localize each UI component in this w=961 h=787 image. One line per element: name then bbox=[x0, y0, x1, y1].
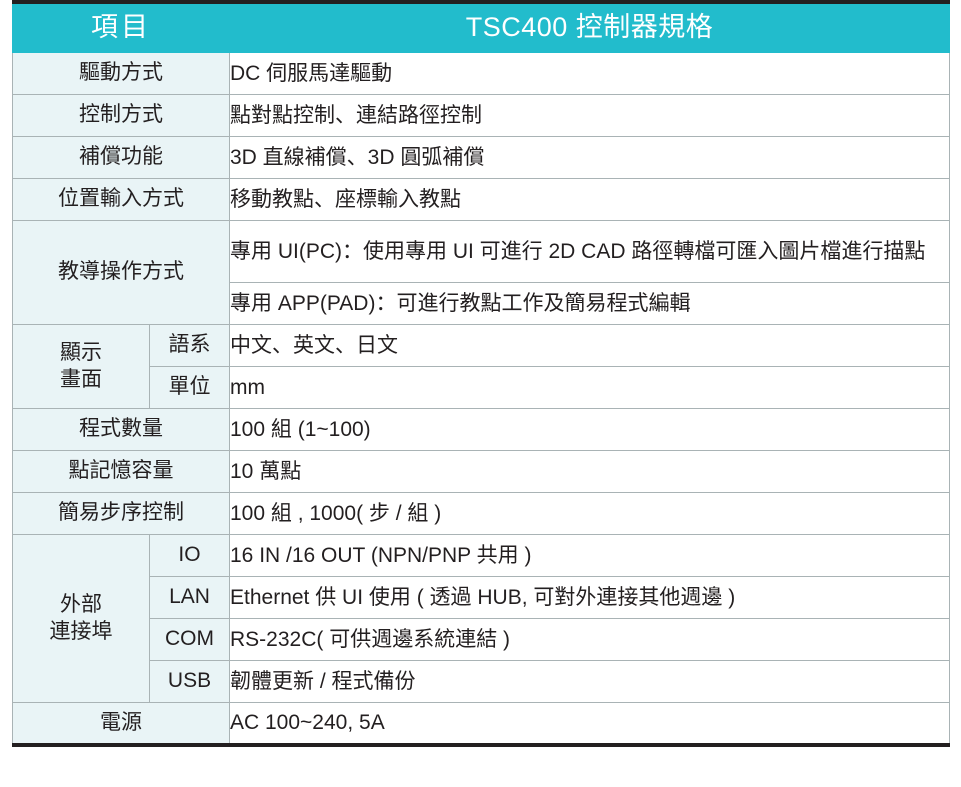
table-row-simple-sequence: 簡易步序控制 100 組 , 1000( 步 / 組 ) bbox=[13, 493, 950, 535]
table-row-program-count: 程式數量 100 組 (1~100) bbox=[13, 409, 950, 451]
table-row-teaching-ui-pc: 教導操作方式 專用 UI(PC)：使用專用 UI 可進行 2D CAD 路徑轉檔… bbox=[13, 221, 950, 283]
table-row-drive-method: 驅動方式 DC 伺服馬達驅動 bbox=[13, 53, 950, 95]
label-external-port: 外部連接埠 bbox=[13, 535, 150, 703]
label-power: 電源 bbox=[13, 703, 230, 745]
label-compensation: 補償功能 bbox=[13, 137, 230, 179]
table-row-compensation: 補償功能 3D 直線補償、3D 圓弧補償 bbox=[13, 137, 950, 179]
label-com: COM bbox=[150, 619, 230, 661]
label-lan: LAN bbox=[150, 577, 230, 619]
label-point-memory: 點記憶容量 bbox=[13, 451, 230, 493]
table-row-display-unit: 單位 mm bbox=[13, 367, 950, 409]
value-power: AC 100~240, 5A bbox=[230, 703, 950, 745]
label-position-input: 位置輸入方式 bbox=[13, 179, 230, 221]
value-language: 中文、英文、日文 bbox=[230, 325, 950, 367]
table-row-io: 外部連接埠 IO 16 IN /16 OUT (NPN/PNP 共用 ) bbox=[13, 535, 950, 577]
value-control-method: 點對點控制、連結路徑控制 bbox=[230, 95, 950, 137]
header-item-label: 項目 bbox=[13, 2, 230, 53]
header-spec-title: TSC400 控制器規格 bbox=[230, 2, 950, 53]
label-drive-method: 驅動方式 bbox=[13, 53, 230, 95]
label-program-count: 程式數量 bbox=[13, 409, 230, 451]
label-teaching-operation: 教導操作方式 bbox=[13, 221, 230, 325]
table-row-com: COM RS-232C( 可供週邊系統連結 ) bbox=[13, 619, 950, 661]
table-row-position-input: 位置輸入方式 移動教點、座標輸入教點 bbox=[13, 179, 950, 221]
label-external-port-line1: 外部 bbox=[60, 593, 102, 616]
label-language: 語系 bbox=[150, 325, 230, 367]
label-display-line2: 畫面 bbox=[60, 368, 102, 391]
label-external-port-line2: 連接埠 bbox=[50, 620, 113, 643]
value-program-count: 100 組 (1~100) bbox=[230, 409, 950, 451]
label-unit: 單位 bbox=[150, 367, 230, 409]
value-teaching-ui-pc: 專用 UI(PC)：使用專用 UI 可進行 2D CAD 路徑轉檔可匯入圖片檔進… bbox=[230, 221, 950, 283]
label-usb: USB bbox=[150, 661, 230, 703]
controller-spec-table: 項目 TSC400 控制器規格 驅動方式 DC 伺服馬達驅動 控制方式 點對點控… bbox=[12, 0, 950, 747]
value-point-memory: 10 萬點 bbox=[230, 451, 950, 493]
value-drive-method: DC 伺服馬達驅動 bbox=[230, 53, 950, 95]
table-header-row: 項目 TSC400 控制器規格 bbox=[13, 2, 950, 53]
value-simple-sequence: 100 組 , 1000( 步 / 組 ) bbox=[230, 493, 950, 535]
value-position-input: 移動教點、座標輸入教點 bbox=[230, 179, 950, 221]
label-simple-sequence: 簡易步序控制 bbox=[13, 493, 230, 535]
label-control-method: 控制方式 bbox=[13, 95, 230, 137]
value-unit: mm bbox=[230, 367, 950, 409]
label-display-line1: 顯示 bbox=[60, 341, 102, 364]
table-row-lan: LAN Ethernet 供 UI 使用 ( 透過 HUB, 可對外連接其他週邊… bbox=[13, 577, 950, 619]
table-row-control-method: 控制方式 點對點控制、連結路徑控制 bbox=[13, 95, 950, 137]
label-io: IO bbox=[150, 535, 230, 577]
value-lan: Ethernet 供 UI 使用 ( 透過 HUB, 可對外連接其他週邊 ) bbox=[230, 577, 950, 619]
value-usb: 韌體更新 / 程式備份 bbox=[230, 661, 950, 703]
spec-table-container: 項目 TSC400 控制器規格 驅動方式 DC 伺服馬達驅動 控制方式 點對點控… bbox=[0, 0, 961, 747]
table-row-usb: USB 韌體更新 / 程式備份 bbox=[13, 661, 950, 703]
label-display-screen: 顯示畫面 bbox=[13, 325, 150, 409]
value-com: RS-232C( 可供週邊系統連結 ) bbox=[230, 619, 950, 661]
value-compensation: 3D 直線補償、3D 圓弧補償 bbox=[230, 137, 950, 179]
table-row-point-memory: 點記憶容量 10 萬點 bbox=[13, 451, 950, 493]
value-teaching-app-pad: 專用 APP(PAD)：可進行教點工作及簡易程式編輯 bbox=[230, 283, 950, 325]
table-row-power: 電源 AC 100~240, 5A bbox=[13, 703, 950, 745]
value-io: 16 IN /16 OUT (NPN/PNP 共用 ) bbox=[230, 535, 950, 577]
table-row-display-language: 顯示畫面 語系 中文、英文、日文 bbox=[13, 325, 950, 367]
